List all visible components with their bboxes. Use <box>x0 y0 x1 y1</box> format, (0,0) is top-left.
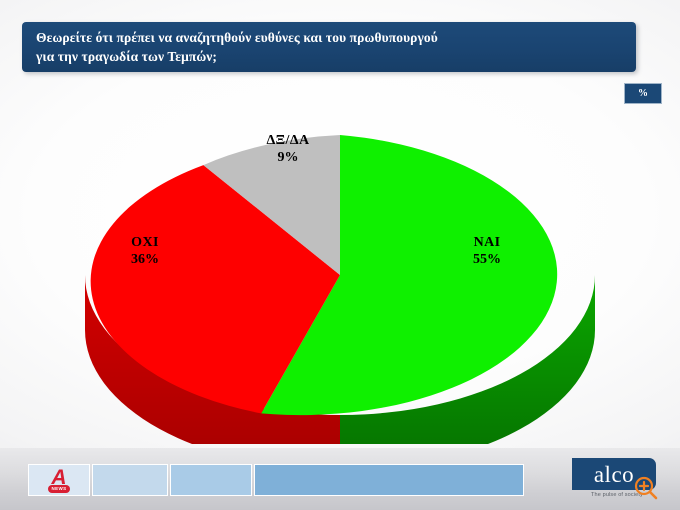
magnifier-plus-icon <box>634 476 658 500</box>
footer-color-strip: A NEWS <box>28 464 524 496</box>
footer-segment-medium <box>170 464 252 496</box>
percent-unit-badge: % <box>624 83 662 104</box>
footer-segment-dark <box>254 464 524 496</box>
alpha-news-badge: NEWS <box>48 485 70 493</box>
footer-segment-logo: A NEWS <box>28 464 90 496</box>
poll-slide: Θεωρείτε ότι πρέπει να αναζητηθούν ευθύν… <box>0 0 680 510</box>
page-title: Θεωρείτε ότι πρέπει να αναζητηθούν ευθύν… <box>36 28 622 67</box>
pie-top-face <box>91 135 558 415</box>
alpha-news-logo-icon: A NEWS <box>46 468 72 492</box>
footer-segment-light <box>92 464 168 496</box>
alco-wordmark: alco <box>594 463 634 486</box>
alco-logo: alco The pulse of society <box>572 458 668 502</box>
footer: A NEWS alco The pulse of society <box>0 448 680 510</box>
pie-chart-svg <box>0 104 680 444</box>
pie-chart: ΝΑΙ 55% ΟΧΙ 36% ΔΞ/ΔΑ 9% <box>0 104 680 444</box>
header-bar: Θεωρείτε ότι πρέπει να αναζητηθούν ευθύν… <box>22 22 636 72</box>
